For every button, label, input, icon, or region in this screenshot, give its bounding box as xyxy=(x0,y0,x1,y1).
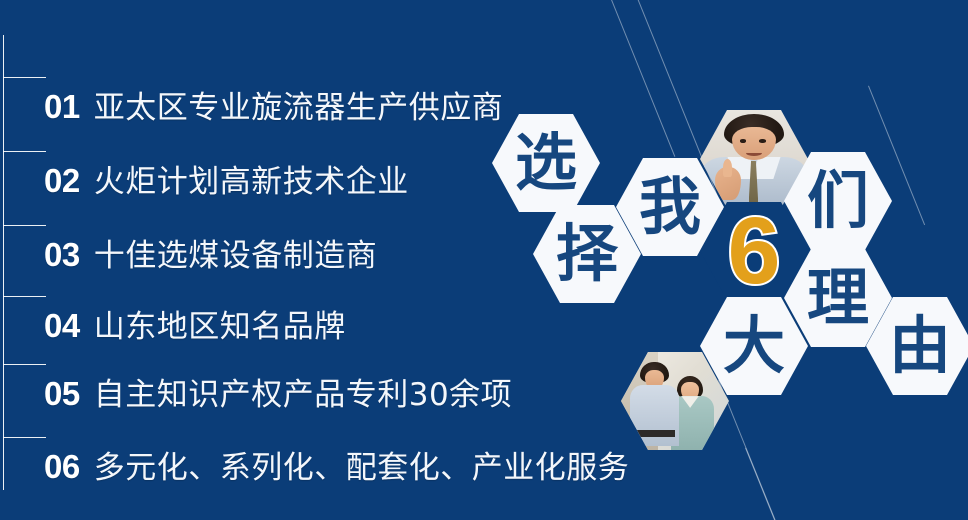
hex-you-glyph: 由 xyxy=(889,315,951,377)
photo-thumb xyxy=(723,159,733,177)
hex-ze-glyph: 择 xyxy=(556,223,618,285)
promo-banner: 01 亚太区专业旋流器生产供应商 02 火炬计划高新技术企业 03 十佳选煤设备… xyxy=(0,0,968,520)
photo-man-belt xyxy=(634,430,675,437)
hex-six-glyph: 6 xyxy=(728,204,781,299)
hex-wo-glyph: 我 xyxy=(639,176,701,238)
hex-men-glyph: 们 xyxy=(807,170,869,232)
hex-li-glyph: 理 xyxy=(807,267,869,329)
photo-eye-left xyxy=(740,139,746,142)
hex-xuan-glyph: 选 xyxy=(515,132,577,194)
hexagon-cluster: 选 择 我 xyxy=(0,0,968,520)
hex-xuan: 选 xyxy=(492,114,600,212)
photo-eye-right xyxy=(759,139,765,142)
photo-smile xyxy=(746,150,761,156)
hex-da-glyph: 大 xyxy=(723,315,785,377)
